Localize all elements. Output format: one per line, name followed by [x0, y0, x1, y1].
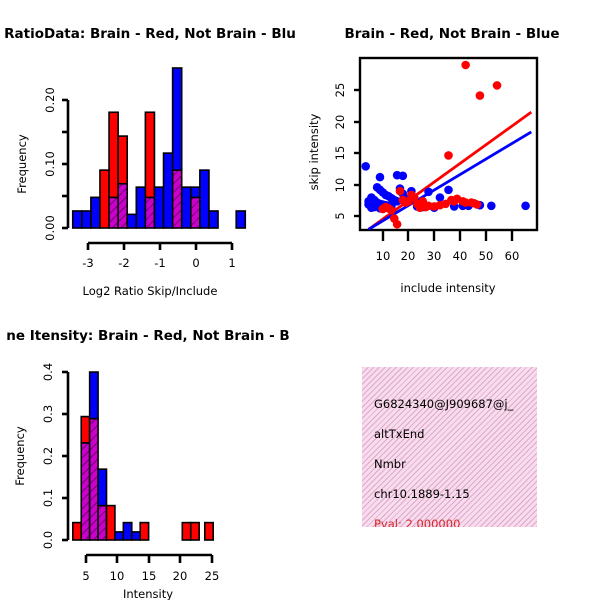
hist-bar-red: [205, 523, 213, 540]
intensity-histogram-bars: [73, 372, 213, 540]
hist-bar-overlap: [109, 197, 118, 228]
scatter-point: [493, 81, 502, 90]
scatter-point: [404, 197, 413, 206]
scatter-ytick-1: 10: [333, 178, 347, 193]
scatter-point: [444, 186, 453, 195]
scatter-ytick-2: 15: [333, 146, 347, 161]
scatter-point: [381, 203, 390, 212]
ratio-histogram-bars: [73, 68, 246, 228]
hist-bar-blue: [191, 187, 200, 197]
ratio-ytick-2: 0.20: [43, 87, 57, 113]
hist-bar-red: [81, 417, 89, 443]
intensity-ytick-0: 0.0: [41, 531, 55, 549]
locus: chr10.1889-1.15: [374, 479, 537, 509]
event-info-panel: G6824340@J909687@j_altTxEndNmbrchr10.188…: [362, 367, 537, 527]
scatter-xtick-0: 10: [376, 249, 391, 263]
panel-ratio-histogram: RatioData: Brain - Red, Not Brain - Blu …: [0, 0, 300, 310]
event-type: altTxEnd: [374, 419, 537, 449]
scatter-title: Brain - Red, Not Brain - Blue: [344, 26, 559, 42]
intensity-xtick-1: 10: [110, 569, 125, 583]
ratio-xtick-0: -3: [82, 256, 93, 270]
scatter-xlabel: include intensity: [400, 281, 495, 295]
scatter-point: [473, 200, 482, 209]
hist-bar-blue: [164, 153, 173, 228]
hist-bar-red: [109, 112, 118, 197]
scatter-point: [364, 200, 373, 209]
intensity-ytick-2: 0.2: [41, 447, 55, 465]
intensity-xtick-0: 5: [82, 569, 89, 583]
hist-bar-blue: [98, 469, 106, 505]
scatter-points: [361, 61, 529, 229]
hist-bar-red: [140, 523, 148, 540]
hist-bar-blue: [236, 211, 245, 228]
hist-bar-red: [191, 523, 199, 540]
scatter-point: [476, 91, 485, 100]
panel-intensity-histogram: ne Itensity: Brain - Red, Not Brain - B …: [0, 310, 300, 600]
scatter-point: [444, 151, 453, 160]
hist-bar-red: [182, 523, 190, 540]
scatter-point: [521, 201, 530, 210]
hist-bar-blue: [209, 211, 218, 228]
scatter-xtick-3: 40: [453, 249, 468, 263]
hist-bar-blue: [123, 523, 131, 540]
hist-bar-overlap: [191, 197, 200, 228]
hist-bar-overlap: [90, 419, 98, 540]
scatter-xtick-5: 60: [505, 249, 520, 263]
hist-bar-blue: [173, 68, 182, 170]
ratio-xtick-3: 0: [192, 256, 199, 270]
ratio-histogram-title: RatioData: Brain - Red, Not Brain - Blu: [4, 26, 296, 42]
hist-bar-blue: [82, 211, 91, 228]
hist-bar-red: [73, 523, 81, 540]
ratio-xtick-1: -2: [118, 256, 129, 270]
hist-bar-blue: [200, 170, 209, 228]
hist-bar-blue: [132, 532, 140, 540]
ratio-ylabel: Frequency: [15, 134, 29, 194]
scatter-xtick-2: 30: [427, 249, 442, 263]
scatter-svg: Brain - Red, Not Brain - Blue 5 10 15 20…: [300, 0, 600, 310]
hist-bar-blue: [136, 187, 145, 228]
scatter-point: [393, 220, 402, 229]
scatter-ytick-3: 20: [333, 115, 347, 130]
hist-bar-overlap: [173, 170, 182, 228]
hist-bar-blue: [90, 372, 98, 419]
intensity-ytick-4: 0.4: [41, 363, 55, 381]
scatter-point: [376, 173, 385, 182]
ratio-ytick-0: 0.00: [43, 215, 57, 241]
scatter-ytick-0: 5: [333, 212, 347, 219]
hist-bar-red: [118, 136, 127, 184]
scatter-point: [399, 172, 408, 181]
event-id: G6824340@J909687@j_: [374, 389, 537, 419]
scatter-point: [421, 203, 430, 212]
hist-bar-blue: [182, 187, 191, 228]
intensity-histogram-svg: ne Itensity: Brain - Red, Not Brain - B …: [0, 310, 300, 600]
ratio-xtick-2: -1: [154, 256, 165, 270]
hist-bar-overlap: [98, 506, 106, 540]
panel-scatter: Brain - Red, Not Brain - Blue 5 10 15 20…: [300, 0, 600, 310]
intensity-xlabel: Intensity: [123, 587, 173, 600]
ratio-xtick-4: 1: [228, 256, 235, 270]
scatter-point: [424, 187, 433, 196]
hist-bar-red: [107, 506, 115, 540]
hist-bar-overlap: [145, 197, 154, 228]
ratio-ytick-1: 0.10: [43, 151, 57, 177]
intensity-xtick-2: 15: [142, 569, 157, 583]
hist-bar-blue: [91, 197, 100, 228]
scatter-xtick-4: 50: [479, 249, 494, 263]
scatter-ylabel: skip intensity: [307, 113, 321, 190]
scatter-point: [361, 162, 370, 171]
hist-bar-blue: [154, 187, 163, 228]
scatter-point: [396, 187, 405, 196]
hist-bar-red: [145, 112, 154, 197]
intensity-histogram-title: ne Itensity: Brain - Red, Not Brain - B: [6, 328, 289, 344]
intensity-ylabel: Frequency: [13, 426, 27, 486]
ratio-histogram-svg: RatioData: Brain - Red, Not Brain - Blu …: [0, 0, 300, 310]
intensity-xtick-3: 20: [173, 569, 188, 583]
intensity-xtick-4: 25: [205, 569, 220, 583]
intensity-ytick-1: 0.1: [41, 489, 55, 507]
hist-bar-red: [100, 170, 109, 228]
hist-bar-blue: [73, 211, 82, 228]
scatter-point: [461, 61, 470, 70]
hist-bar-blue: [115, 532, 123, 540]
intensity-histogram-axes: 0.0 0.1 0.2 0.3 0.4 Frequency 5 10 15 20…: [13, 363, 219, 600]
scatter-xtick-1: 20: [401, 249, 416, 263]
scatter-point: [487, 201, 496, 210]
hist-bar-overlap: [81, 443, 89, 540]
hist-bar-blue: [127, 214, 136, 228]
scatter-ytick-4: 25: [333, 83, 347, 98]
hist-bar-overlap: [118, 184, 127, 228]
event-info-lines: G6824340@J909687@j_altTxEndNmbrchr10.188…: [374, 389, 537, 527]
gene-symbol: Nmbr: [374, 449, 537, 479]
intensity-ytick-3: 0.3: [41, 405, 55, 423]
pvalue: Pval: 2.000000: [374, 509, 537, 527]
scatter-point: [436, 193, 445, 202]
ratio-xlabel: Log2 Ratio Skip/Include: [83, 284, 218, 298]
